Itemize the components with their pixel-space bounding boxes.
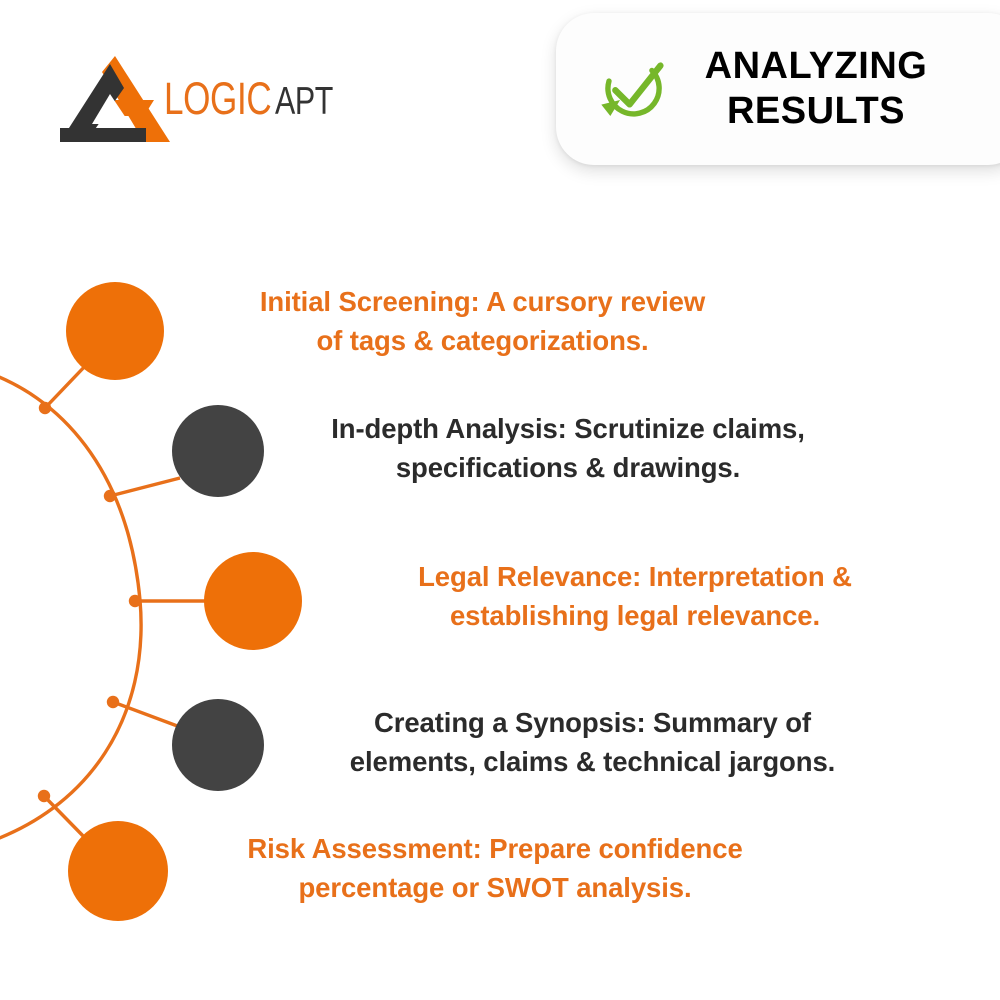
main-arc xyxy=(0,370,141,845)
refresh-check-icon xyxy=(594,50,672,128)
step-label-2: In-depth Analysis: Scrutinize claims, sp… xyxy=(248,409,888,487)
step-node-4 xyxy=(172,699,264,791)
arc-junction-dot-1 xyxy=(39,402,51,414)
logo-text-apt: APT xyxy=(275,82,333,121)
arc-junction-dot-4 xyxy=(107,696,119,708)
connector-2 xyxy=(110,478,180,496)
connector-4 xyxy=(113,702,180,727)
connector-1 xyxy=(45,363,88,408)
connector-5 xyxy=(44,796,88,841)
arc-junction-dot-3 xyxy=(129,595,141,607)
logicapt-triangle-mark xyxy=(58,50,170,146)
step-label-3: Legal Relevance: Interpretation & establ… xyxy=(330,557,940,635)
logo-wordmark: LOGIC APT xyxy=(164,76,349,121)
logo-text-logic: LOGIC xyxy=(164,76,271,121)
badge-title: ANALYZING RESULTS xyxy=(672,44,1000,134)
step-label-1: Initial Screening: A cursory review of t… xyxy=(195,282,770,360)
step-node-3 xyxy=(204,552,302,650)
infographic-canvas: LOGIC APT ANALYZING RESULTS xyxy=(0,0,1000,1000)
step-label-5: Risk Assessment: Prepare confidence perc… xyxy=(185,829,805,907)
step-label-4: Creating a Synopsis: Summary of elements… xyxy=(270,703,915,781)
arc-junction-dot-5 xyxy=(38,790,50,802)
analyzing-results-badge[interactable]: ANALYZING RESULTS xyxy=(556,13,1000,165)
step-node-1 xyxy=(66,282,164,380)
brand-logo[interactable]: LOGIC APT xyxy=(58,48,358,148)
step-node-5 xyxy=(68,821,168,921)
arc-junction-dot-2 xyxy=(104,490,116,502)
